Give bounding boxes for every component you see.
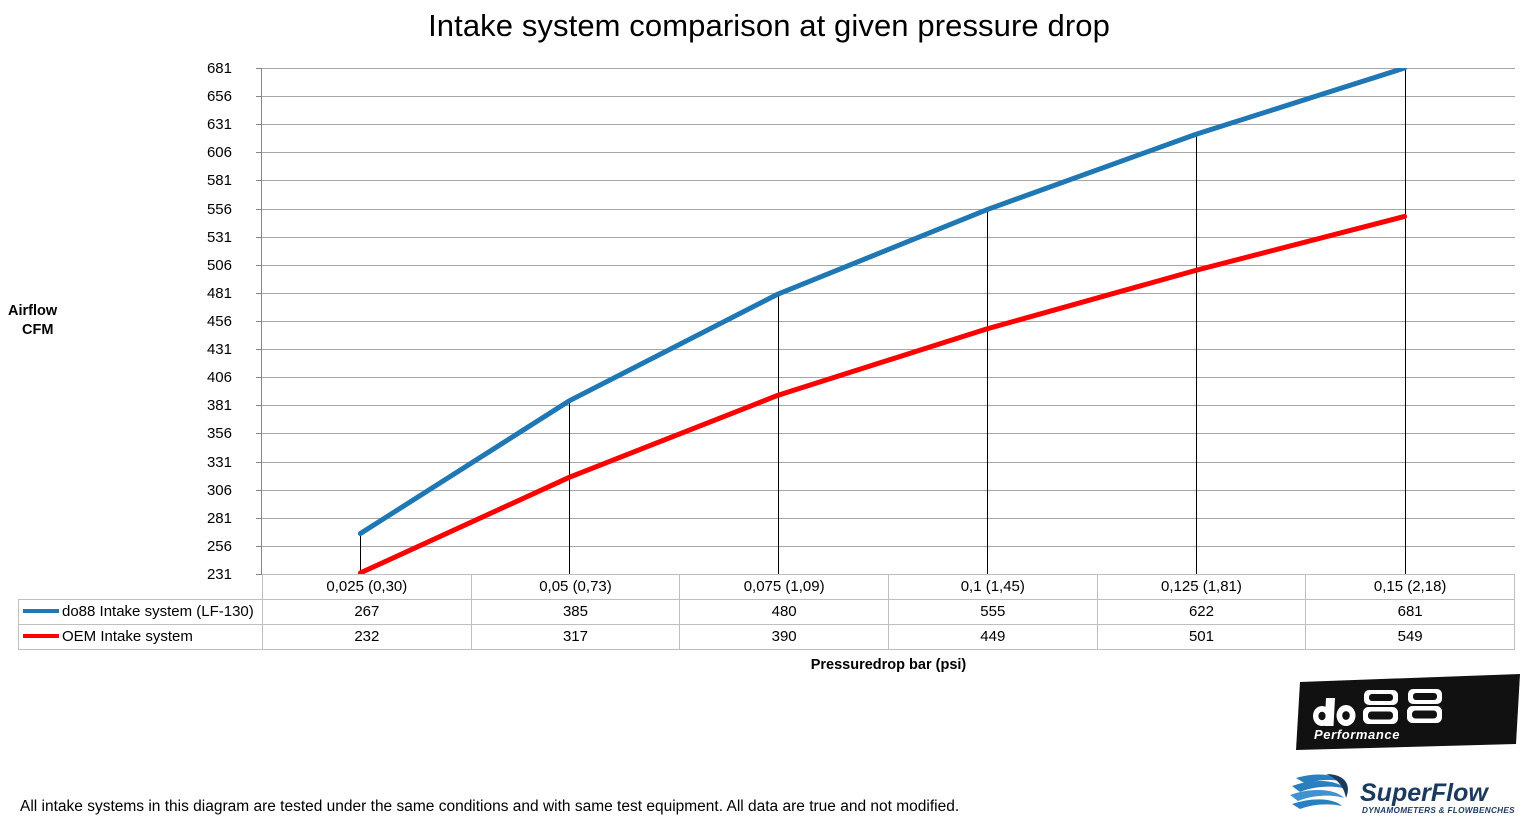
y-axis-tick-label: 581	[172, 173, 232, 188]
y-axis-tick-label: 506	[172, 258, 232, 273]
table-value-cell: 317	[471, 625, 680, 650]
table-row: 0,025 (0,30)0,05 (0,73)0,075 (1,09)0,1 (…	[19, 575, 1515, 600]
y-axis-tick-label: 331	[172, 455, 232, 470]
table-value-cell: 232	[263, 625, 472, 650]
table-value-cell: 390	[680, 625, 889, 650]
table-value-cell: 267	[263, 600, 472, 625]
y-axis-tick-label: 456	[172, 314, 232, 329]
y-axis-tick-label: 531	[172, 230, 232, 245]
y-axis-tick-label: 406	[172, 370, 232, 385]
table-value-cell: 501	[1097, 625, 1306, 650]
y-axis-tick-label: 281	[172, 511, 232, 526]
plot-area: 6816566316065815565315064814564314063813…	[262, 68, 1515, 574]
footnote-text: All intake systems in this diagram are t…	[20, 798, 959, 816]
y-axis-tick-label: 556	[172, 202, 232, 217]
legend-entry[interactable]: do88 Intake system (LF-130)	[19, 600, 263, 625]
table-row: do88 Intake system (LF-130)2673854805556…	[19, 600, 1515, 625]
x-axis-category-label: 0,05 (0,73)	[471, 575, 680, 600]
x-axis-category-label: 0,075 (1,09)	[680, 575, 889, 600]
superflow-logo: SuperFlow DYNAMOMETERS & FLOWBENCHES	[1286, 768, 1526, 820]
y-axis-tick-label: 306	[172, 483, 232, 498]
y-axis-tick-label: 681	[172, 61, 232, 76]
series-line	[360, 216, 1404, 572]
legend-swatch-icon	[23, 634, 59, 638]
x-axis-category-label: 0,1 (1,45)	[888, 575, 1097, 600]
y-axis-tick-label: 356	[172, 426, 232, 441]
series-line	[360, 68, 1404, 534]
superflow-swoosh-icon	[1290, 774, 1348, 809]
y-axis-title-line2: CFM	[8, 321, 108, 340]
svg-text:SuperFlow: SuperFlow	[1360, 779, 1489, 807]
table-value-cell: 449	[888, 625, 1097, 650]
y-axis-title: Airflow CFM	[8, 302, 108, 340]
y-axis-tick-label: 431	[172, 342, 232, 357]
series-lines	[262, 68, 1515, 574]
chart-page: Intake system comparison at given pressu…	[0, 0, 1538, 828]
chart-title: Intake system comparison at given pressu…	[0, 8, 1538, 44]
do88-logo: Performance	[1292, 672, 1524, 752]
table-value-cell: 622	[1097, 600, 1306, 625]
y-axis-title-line1: Airflow	[8, 303, 57, 319]
table-value-cell: 681	[1306, 600, 1515, 625]
x-axis-category-label: 0,125 (1,81)	[1097, 575, 1306, 600]
table-value-cell: 385	[471, 600, 680, 625]
legend-swatch-icon	[23, 609, 59, 613]
x-axis-category-label: 0,025 (0,30)	[263, 575, 472, 600]
y-axis-tick-label: 256	[172, 539, 232, 554]
y-axis-tick-label: 381	[172, 398, 232, 413]
table-value-cell: 480	[680, 600, 889, 625]
table-value-cell: 555	[888, 600, 1097, 625]
svg-text:DYNAMOMETERS & FLOWBENCHES: DYNAMOMETERS & FLOWBENCHES	[1362, 806, 1515, 815]
y-axis-tick-label: 656	[172, 89, 232, 104]
legend-label: OEM Intake system	[62, 628, 193, 645]
chart-data-table: 0,025 (0,30)0,05 (0,73)0,075 (1,09)0,1 (…	[18, 574, 1515, 650]
x-axis-category-label: 0,15 (2,18)	[1306, 575, 1515, 600]
table-corner-cell	[19, 575, 263, 600]
y-axis-tick-label: 481	[172, 286, 232, 301]
legend-entry[interactable]: OEM Intake system	[19, 625, 263, 650]
y-axis-tick-label: 606	[172, 145, 232, 160]
y-axis-tick-label: 631	[172, 117, 232, 132]
legend-label: do88 Intake system (LF-130)	[62, 603, 254, 620]
x-axis-title: Pressuredrop bar (psi)	[262, 657, 1515, 673]
table-value-cell: 549	[1306, 625, 1515, 650]
svg-text:Performance: Performance	[1314, 727, 1400, 742]
table-row: OEM Intake system232317390449501549	[19, 625, 1515, 650]
